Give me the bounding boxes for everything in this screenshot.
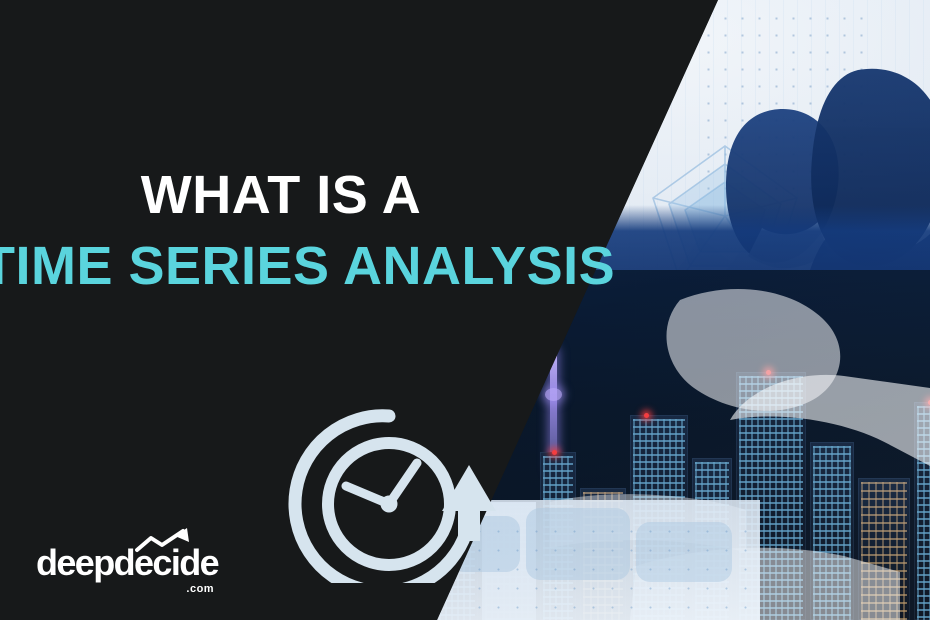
clock-with-rotating-arrow-icon xyxy=(283,403,503,583)
logo-tld: .com xyxy=(36,583,214,595)
page-title: WHAT IS A TIME SERIES ANALYSIS xyxy=(0,168,560,294)
headline-line-1: WHAT IS A xyxy=(2,168,560,223)
headline-line-2: TIME SERIES ANALYSIS xyxy=(0,239,560,294)
banner-canvas: WHAT IS A TIME SERIES ANALYSIS deepdecid… xyxy=(0,0,930,620)
upward-trend-arrow-icon xyxy=(135,528,201,554)
logo[interactable]: deepdecide .com xyxy=(36,545,218,595)
